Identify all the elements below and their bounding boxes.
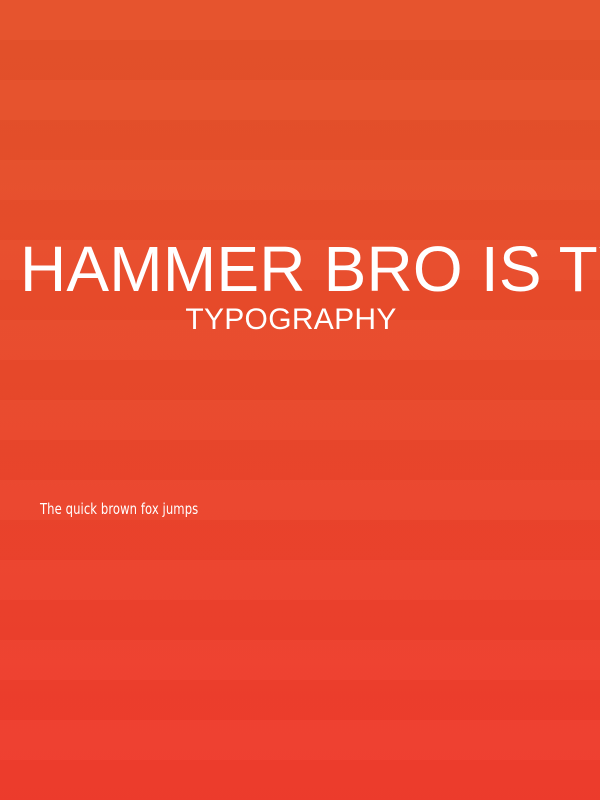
headline-title: HAMMER BRO IS TYPOGRAPHY (20, 232, 600, 306)
body-text-sample: The quick brown fox jumps (40, 498, 198, 520)
subtitle-label: TYPOGRAPHY (0, 301, 582, 339)
typography-specimen-page: HAMMER BRO IS TYPOGRAPHY TYPOGRAPHY The … (0, 0, 600, 800)
